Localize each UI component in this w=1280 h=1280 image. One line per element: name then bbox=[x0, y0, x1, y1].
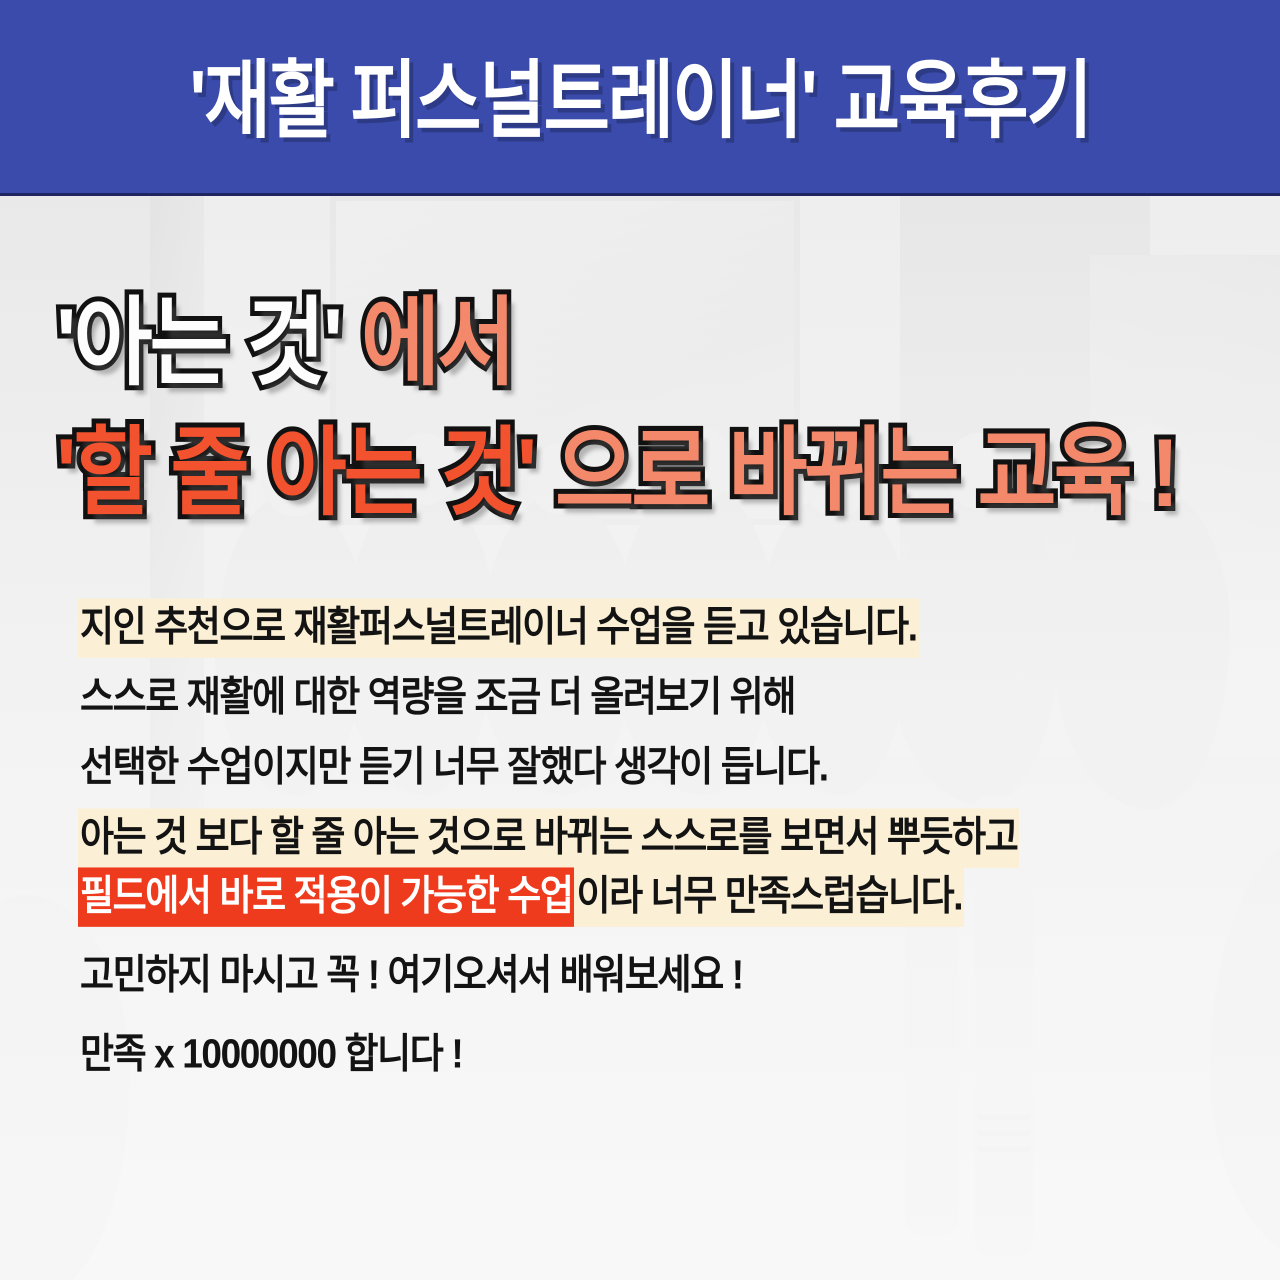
review-segment: 이라 너무 만족스럽습니다. bbox=[574, 867, 964, 926]
review-line: 지인 추천으로 재활퍼스널트레이너 수업을 듣고 있습니다. bbox=[78, 606, 1218, 647]
headline-line-1-part-1: '아는 것' bbox=[56, 290, 340, 398]
review-line: 필드에서 바로 적용이 가능한 수업이라 너무 만족스럽습니다. bbox=[78, 875, 1218, 916]
headline-line-1-part-2: 에서 bbox=[340, 290, 513, 398]
headline-line-2: '할 줄 아는 것' 으로 바뀌는 교육 ! bbox=[56, 412, 1236, 535]
review-segment: 지인 추천으로 재활퍼스널트레이너 수업을 듣고 있습니다. bbox=[78, 598, 919, 657]
review-body-text: 지인 추천으로 재활퍼스널트레이너 수업을 듣고 있습니다. 스스로 재활에 대… bbox=[78, 608, 1218, 1072]
header-divider bbox=[0, 193, 1280, 196]
headline-line-1: '아는 것' 에서 bbox=[56, 282, 1236, 405]
review-line: 스스로 재활에 대한 역량을 조금 더 올려보기 위해 bbox=[78, 676, 1218, 717]
review-poster: '재활 퍼스널트레이너' 교육후기 '아는 것' 에서 '할 줄 아는 것' 으… bbox=[0, 0, 1280, 1280]
headline-block: '아는 것' 에서 '할 줄 아는 것' 으로 바뀌는 교육 ! bbox=[56, 282, 1236, 522]
review-segment: 고민하지 마시고 꼭 ! 여기오셔서 배워보세요 ! bbox=[78, 946, 745, 1005]
poster-header-band: '재활 퍼스널트레이너' 교육후기 bbox=[0, 0, 1280, 196]
headline-line-2-part-2: 으로 바뀌는 교육 ! bbox=[534, 420, 1176, 528]
page-title: '재활 퍼스널트레이너' 교육후기 bbox=[189, 52, 1090, 144]
headline-line-2-part-1: '할 줄 아는 것' bbox=[56, 420, 534, 528]
review-line: 만족 x 10000000 합니다 ! bbox=[78, 1033, 1218, 1074]
review-line: 고민하지 마시고 꼭 ! 여기오셔서 배워보세요 ! bbox=[78, 954, 1218, 995]
review-line: 선택한 수업이지만 듣기 너무 잘했다 생각이 듭니다. bbox=[78, 746, 1218, 787]
review-line: 아는 것 보다 할 줄 아는 것으로 바뀌는 스스로를 보면서 뿌듯하고 bbox=[78, 816, 1218, 857]
review-segment: 아는 것 보다 할 줄 아는 것으로 바뀌는 스스로를 보면서 뿌듯하고 bbox=[78, 808, 1019, 867]
review-segment-emphasis: 필드에서 바로 적용이 가능한 수업 bbox=[78, 867, 574, 926]
review-segment: 스스로 재활에 대한 역량을 조금 더 올려보기 위해 bbox=[78, 668, 797, 727]
review-segment: 만족 x 10000000 합니다 ! bbox=[78, 1025, 464, 1084]
review-segment: 선택한 수업이지만 듣기 너무 잘했다 생각이 듭니다. bbox=[78, 738, 830, 797]
